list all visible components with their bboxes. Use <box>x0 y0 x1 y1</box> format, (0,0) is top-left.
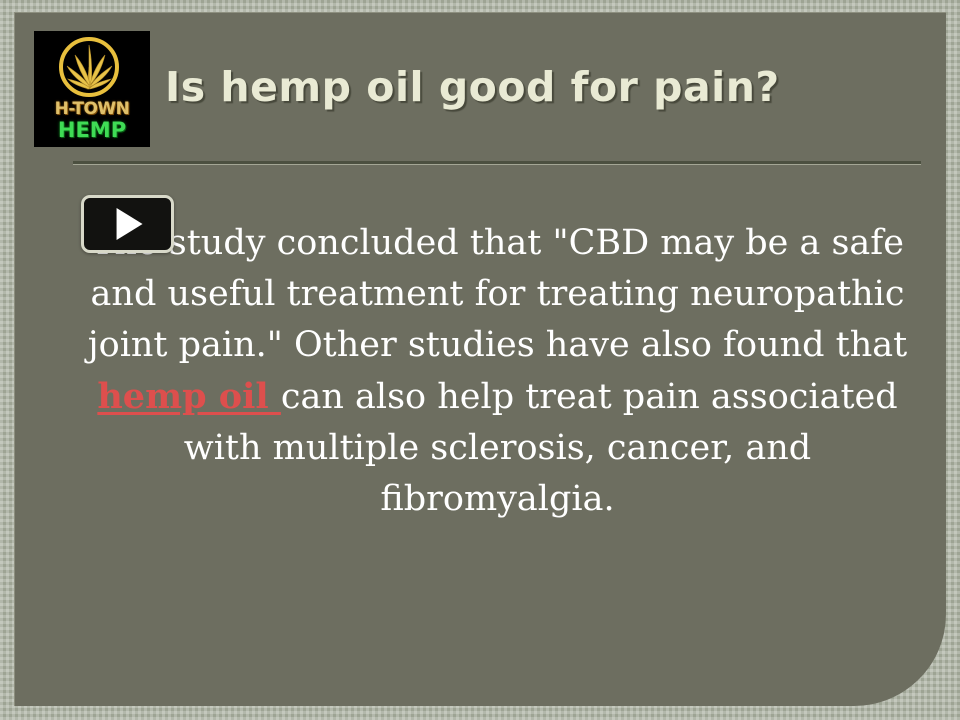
brand-logo: H-TOWN HEMP <box>34 31 150 147</box>
page-title: Is hemp oil good for pain? <box>165 62 925 112</box>
hemp-oil-link[interactable]: hemp oil <box>97 376 281 417</box>
title-divider <box>73 161 921 164</box>
body-text-part-2: can also help treat pain associated with… <box>184 377 898 519</box>
slide-content-panel: H-TOWN HEMP Is hemp oil good for pain? T… <box>14 12 946 706</box>
slide-canvas: H-TOWN HEMP Is hemp oil good for pain? T… <box>0 0 960 720</box>
logo-word-bottom: HEMP <box>34 118 150 142</box>
body-paragraph: The study concluded that "CBD may be a s… <box>75 218 920 525</box>
cannabis-leaf-icon <box>59 37 125 103</box>
play-triangle-icon <box>116 208 142 240</box>
leaf-glyph-icon <box>59 37 125 103</box>
video-play-button[interactable] <box>81 195 174 253</box>
logo-word-top: H-TOWN <box>34 99 150 119</box>
body-text-part-1: The study concluded that "CBD may be a s… <box>88 223 907 365</box>
